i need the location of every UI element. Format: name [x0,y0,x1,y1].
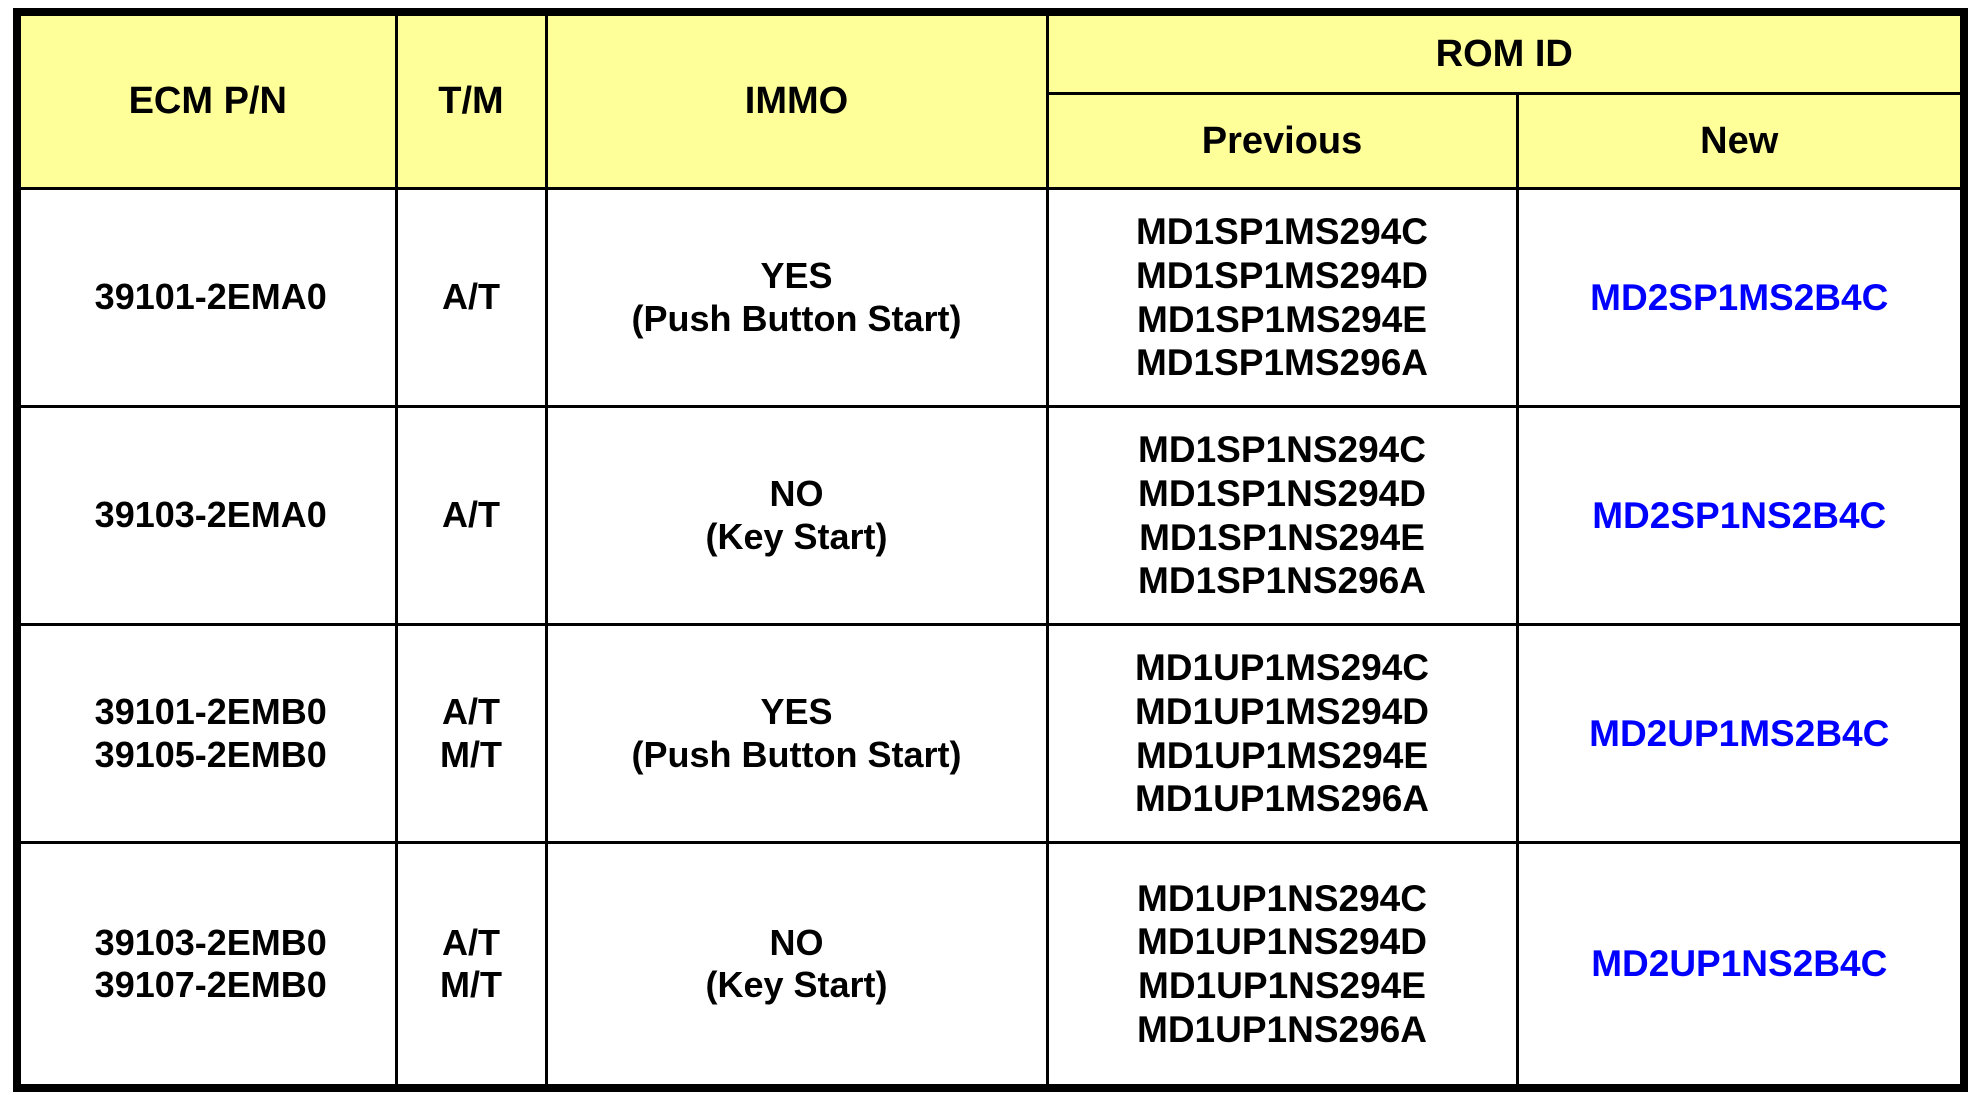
cell-line-stack: NO(Key Start) [548,473,1046,558]
cell-line: M/T [398,734,545,776]
cell-line-stack: MD2UP1NS2B4C [1519,942,1961,986]
cell-line: 39105-2EMB0 [27,734,395,776]
cell-line: MD2SP1MS2B4C [1519,276,1961,320]
cell-line: A/T [398,691,545,733]
cell-line: MD1UP1NS294E [1049,964,1516,1008]
header-row-primary: ECM P/N T/M IMMO ROM ID [17,12,1964,94]
cell-line-stack: A/T [398,276,545,318]
cell-line: MD1UP1MS294D [1049,690,1516,734]
column-header-immo: IMMO [546,12,1047,189]
cell-line: NO [548,473,1046,515]
cell-line-stack: MD1SP1MS294CMD1SP1MS294DMD1SP1MS294EMD1S… [1049,210,1516,385]
cell-line: MD1UP1MS296A [1049,777,1516,821]
cell-rom-id-new: MD2SP1NS2B4C [1517,407,1964,625]
cell-line: MD2UP1NS2B4C [1519,942,1961,986]
cell-rom-id-new: MD2UP1MS2B4C [1517,625,1964,843]
cell-line-stack: A/T [398,494,545,536]
cell-immo: YES(Push Button Start) [546,189,1047,407]
cell-line-stack: 39103-2EMB039107-2EMB0 [21,922,395,1007]
cell-rom-id-previous: MD1SP1MS294CMD1SP1MS294DMD1SP1MS294EMD1S… [1047,189,1517,407]
table-body: 39101-2EMA0A/TYES(Push Button Start)MD1S… [17,189,1964,1089]
cell-line: MD2UP1MS2B4C [1519,712,1961,756]
cell-line-stack: A/TM/T [398,691,545,776]
cell-line-stack: A/TM/T [398,922,545,1007]
cell-line: (Push Button Start) [548,734,1046,776]
cell-line-stack: MD2SP1NS2B4C [1519,494,1961,538]
cell-line: A/T [398,276,545,318]
cell-line: YES [548,255,1046,297]
cell-line: 39107-2EMB0 [27,964,395,1006]
document-page: ECM P/N T/M IMMO ROM ID Previous New 391… [0,0,1981,1095]
cell-ecm-pn: 39103-2EMB039107-2EMB0 [17,843,396,1089]
cell-ecm-pn: 39103-2EMA0 [17,407,396,625]
cell-line: (Push Button Start) [548,298,1046,340]
cell-line: 39103-2EMB0 [27,922,395,964]
cell-line: MD1SP1NS294C [1049,428,1516,472]
cell-rom-id-previous: MD1UP1NS294CMD1UP1NS294DMD1UP1NS294EMD1U… [1047,843,1517,1089]
cell-line: MD2SP1NS2B4C [1519,494,1961,538]
table-row: 39101-2EMA0A/TYES(Push Button Start)MD1S… [17,189,1964,407]
cell-immo: NO(Key Start) [546,843,1047,1089]
cell-line-stack: NO(Key Start) [548,922,1046,1007]
cell-immo: YES(Push Button Start) [546,625,1047,843]
cell-ecm-pn: 39101-2EMB039105-2EMB0 [17,625,396,843]
cell-line: YES [548,691,1046,733]
column-header-ecm-pn: ECM P/N [17,12,396,189]
cell-line: 39103-2EMA0 [27,494,395,536]
cell-line: MD1UP1MS294C [1049,646,1516,690]
column-header-tm: T/M [396,12,546,189]
cell-rom-id-new: MD2SP1MS2B4C [1517,189,1964,407]
column-header-rom-id: ROM ID [1047,12,1964,94]
cell-line-stack: MD1SP1NS294CMD1SP1NS294DMD1SP1NS294EMD1S… [1049,428,1516,603]
cell-line: MD1UP1NS294C [1049,877,1516,921]
cell-line-stack: MD2SP1MS2B4C [1519,276,1961,320]
cell-line: MD1SP1MS296A [1049,341,1516,385]
cell-tm: A/T [396,407,546,625]
cell-line: MD1SP1MS294D [1049,254,1516,298]
cell-line-stack: 39103-2EMA0 [21,494,395,536]
cell-rom-id-previous: MD1UP1MS294CMD1UP1MS294DMD1UP1MS294EMD1U… [1047,625,1517,843]
table-header: ECM P/N T/M IMMO ROM ID Previous New [17,12,1964,189]
cell-tm: A/TM/T [396,843,546,1089]
cell-line: MD1SP1MS294E [1049,298,1516,342]
cell-immo: NO(Key Start) [546,407,1047,625]
cell-line: (Key Start) [548,516,1046,558]
cell-line: (Key Start) [548,964,1046,1006]
cell-line-stack: YES(Push Button Start) [548,255,1046,340]
cell-line-stack: 39101-2EMA0 [21,276,395,318]
cell-line: MD1SP1NS294D [1049,472,1516,516]
ecm-rom-id-table: ECM P/N T/M IMMO ROM ID Previous New 391… [13,8,1968,1092]
cell-tm: A/T [396,189,546,407]
cell-line: MD1UP1NS294D [1049,920,1516,964]
cell-line-stack: MD2UP1MS2B4C [1519,712,1961,756]
cell-line: 39101-2EMB0 [27,691,395,733]
cell-line: MD1UP1MS294E [1049,734,1516,778]
cell-line-stack: 39101-2EMB039105-2EMB0 [21,691,395,776]
cell-line: MD1SP1NS294E [1049,516,1516,560]
cell-line: A/T [398,494,545,536]
cell-tm: A/TM/T [396,625,546,843]
table-row: 39101-2EMB039105-2EMB0A/TM/TYES(Push But… [17,625,1964,843]
cell-line: M/T [398,964,545,1006]
cell-ecm-pn: 39101-2EMA0 [17,189,396,407]
cell-rom-id-previous: MD1SP1NS294CMD1SP1NS294DMD1SP1NS294EMD1S… [1047,407,1517,625]
cell-line: NO [548,922,1046,964]
cell-line-stack: MD1UP1NS294CMD1UP1NS294DMD1UP1NS294EMD1U… [1049,877,1516,1052]
cell-line: 39101-2EMA0 [27,276,395,318]
cell-line-stack: YES(Push Button Start) [548,691,1046,776]
column-header-rom-id-new: New [1517,94,1964,189]
cell-line: A/T [398,922,545,964]
cell-line: MD1SP1NS296A [1049,559,1516,603]
cell-line: MD1SP1MS294C [1049,210,1516,254]
cell-line-stack: MD1UP1MS294CMD1UP1MS294DMD1UP1MS294EMD1U… [1049,646,1516,821]
column-header-rom-id-previous: Previous [1047,94,1517,189]
cell-line: MD1UP1NS296A [1049,1008,1516,1052]
cell-rom-id-new: MD2UP1NS2B4C [1517,843,1964,1089]
table-row: 39103-2EMA0A/TNO(Key Start)MD1SP1NS294CM… [17,407,1964,625]
table-row: 39103-2EMB039107-2EMB0A/TM/TNO(Key Start… [17,843,1964,1089]
